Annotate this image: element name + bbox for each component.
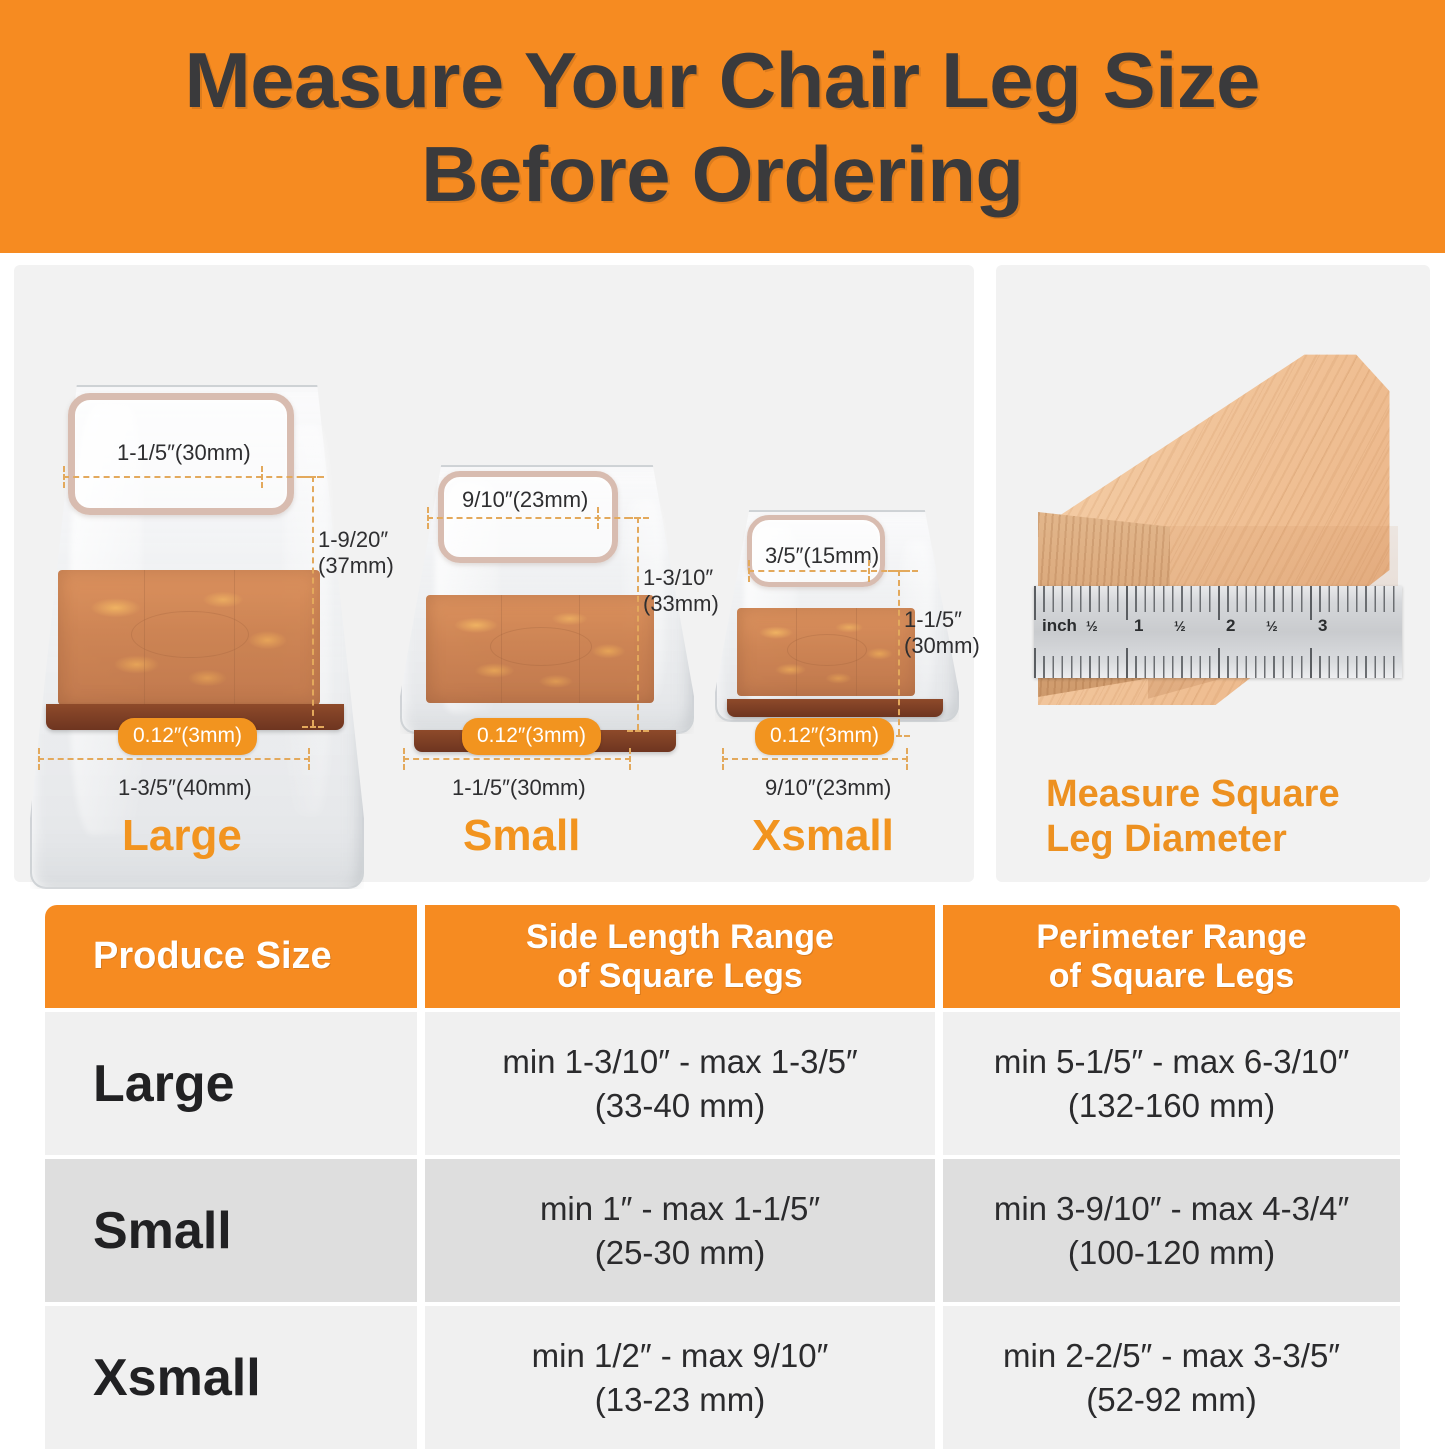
- dim-tick-bottom-large: [302, 726, 324, 728]
- dim-line-top-large: [63, 476, 323, 478]
- dim-line-bottom-small: [403, 758, 631, 760]
- ruler-mark-half-2: ½: [1174, 618, 1186, 634]
- table-row: Large min 1-3/10″ - max 1-3/5″ (33-40 mm…: [45, 1012, 1400, 1155]
- table-cell-side-length: min 1/2″ - max 9/10″ (13-23 mm): [425, 1306, 935, 1449]
- side-length-value-line2: (33-40 mm): [595, 1084, 766, 1128]
- dim-tick-bl-large: [38, 748, 40, 770]
- dim-height-mm-small: (33mm): [643, 591, 719, 616]
- dim-felt-thickness-xsmall: 0.12″(3mm): [755, 718, 894, 755]
- table-cell-size: Xsmall: [45, 1306, 417, 1449]
- dim-top-width-xsmall: 3/5″(15mm): [765, 543, 879, 569]
- table-cell-size: Large: [45, 1012, 417, 1155]
- pad-emboss-ring: [490, 627, 592, 666]
- table-cell-side-length: min 1-3/10″ - max 1-3/5″ (33-40 mm): [425, 1012, 935, 1155]
- dim-bottom-width-large: 1-3/5″(40mm): [118, 775, 252, 801]
- ruler-ticks-bottom-major: [1034, 648, 1402, 678]
- perimeter-value-line1: min 2-2/5″ - max 3-3/5″: [1003, 1334, 1340, 1378]
- dim-tick-bl-small: [403, 748, 405, 770]
- dim-top-width-large: 1-1/5″(30mm): [117, 440, 251, 466]
- side-length-header-line2: of Square Legs: [526, 957, 834, 996]
- perimeter-header-line1: Perimeter Range: [1036, 918, 1306, 957]
- pad-emboss-ring: [131, 611, 248, 659]
- dim-bottom-width-xsmall: 9/10″(23mm): [765, 775, 891, 801]
- table-cell-perimeter: min 2-2/5″ - max 3-3/5″ (52-92 mm): [943, 1306, 1400, 1449]
- dim-height-in-xsmall: 1-1/5″: [904, 607, 962, 632]
- table-header-side-length: Side Length Range of Square Legs: [425, 905, 935, 1008]
- dim-bottom-width-small: 1-1/5″(30mm): [452, 775, 586, 801]
- dim-top-width-small: 9/10″(23mm): [462, 487, 588, 513]
- cap-felt-pad-xsmall: [737, 608, 915, 696]
- perimeter-value-line2: (52-92 mm): [1086, 1378, 1257, 1422]
- measure-caption-line2: Leg Diameter: [1046, 817, 1426, 862]
- cap-felt-pad-large: [58, 570, 320, 705]
- ruler-mark-half-3: ½: [1266, 618, 1278, 634]
- dim-line-height-xsmall: [898, 570, 900, 735]
- dim-tick-right-large: [261, 466, 263, 488]
- side-length-value-line2: (13-23 mm): [595, 1378, 766, 1422]
- table-cell-perimeter: min 3-9/10″ - max 4-3/4″ (100-120 mm): [943, 1159, 1400, 1302]
- table-cell-size: Small: [45, 1159, 417, 1302]
- ruler-mark-3: 3: [1318, 616, 1327, 636]
- dim-tick-top-small: [627, 517, 649, 519]
- perimeter-value-line1: min 5-1/5″ - max 6-3/10″: [994, 1040, 1349, 1084]
- dim-felt-thickness-large: 0.12″(3mm): [118, 718, 257, 755]
- dim-height-in-small: 1-3/10″: [643, 565, 713, 590]
- size-label-small: Small: [463, 812, 580, 860]
- perimeter-value-line1: min 3-9/10″ - max 4-3/4″: [994, 1187, 1349, 1231]
- side-length-value-line1: min 1/2″ - max 9/10″: [532, 1334, 829, 1378]
- ruler-mark-2: 2: [1226, 616, 1235, 636]
- dim-line-height-large: [312, 476, 314, 726]
- dim-tick-top-xsmall: [888, 570, 910, 572]
- table-body: Large min 1-3/10″ - max 1-3/5″ (33-40 mm…: [45, 1012, 1400, 1449]
- dim-height-mm-large: (37mm): [318, 553, 394, 578]
- dim-height-large: 1-9/20″ (37mm): [318, 527, 398, 579]
- table-cell-perimeter: min 5-1/5″ - max 6-3/10″ (132-160 mm): [943, 1012, 1400, 1155]
- ruler-numbers: inch ½ 1 ½ 2 ½ 3: [1034, 616, 1402, 648]
- dim-height-xsmall: 1-1/5″ (30mm): [904, 607, 984, 659]
- table-cell-side-length: min 1″ - max 1-1/5″ (25-30 mm): [425, 1159, 935, 1302]
- dim-height-mm-xsmall: (30mm): [904, 633, 980, 658]
- row-size-label: Small: [93, 1203, 232, 1259]
- size-label-xsmall: Xsmall: [752, 812, 894, 860]
- banner-title-line1: Measure Your Chair Leg Size: [185, 33, 1260, 127]
- ruler-mark-inch: inch: [1042, 616, 1077, 636]
- side-length-value-line1: min 1-3/10″ - max 1-3/5″: [502, 1040, 857, 1084]
- dim-tick-left-xsmall: [748, 560, 750, 582]
- measure-caption-line1: Measure Square: [1046, 772, 1426, 817]
- dim-tick-right-xsmall: [868, 560, 870, 582]
- dim-felt-thickness-small: 0.12″(3mm): [462, 718, 601, 755]
- perimeter-header-line2: of Square Legs: [1036, 957, 1306, 996]
- dim-height-small: 1-3/10″ (33mm): [643, 565, 723, 617]
- ruler: inch ½ 1 ½ 2 ½ 3: [1034, 586, 1402, 678]
- dim-line-bottom-xsmall: [722, 758, 908, 760]
- perimeter-value-line2: (132-160 mm): [1068, 1084, 1275, 1128]
- side-length-value-line2: (25-30 mm): [595, 1231, 766, 1275]
- dim-tick-right-small: [597, 507, 599, 529]
- header-banner: Measure Your Chair Leg Size Before Order…: [0, 0, 1445, 253]
- dim-line-top-small: [427, 517, 640, 519]
- size-label-large: Large: [122, 812, 242, 860]
- table-row: Xsmall min 1/2″ - max 9/10″ (13-23 mm) m…: [45, 1306, 1400, 1449]
- dim-tick-left-large: [63, 466, 65, 488]
- row-size-label: Xsmall: [93, 1350, 261, 1406]
- perimeter-value-line2: (100-120 mm): [1068, 1231, 1275, 1275]
- table-header-produce-size: Produce Size: [45, 905, 417, 1008]
- infographic-page: Measure Your Chair Leg Size Before Order…: [0, 0, 1445, 1445]
- dim-line-bottom-large: [38, 758, 310, 760]
- pad-emboss-ring: [787, 634, 867, 666]
- measure-leg-caption: Measure Square Leg Diameter: [1046, 772, 1426, 862]
- table-header-perimeter: Perimeter Range of Square Legs: [943, 905, 1400, 1008]
- dim-line-height-small: [637, 517, 639, 730]
- dim-tick-bottom-small: [627, 730, 649, 732]
- size-chart-table: Produce Size Side Length Range of Square…: [45, 905, 1400, 1449]
- dim-tick-br-xsmall: [906, 748, 908, 770]
- dim-tick-top-large: [302, 476, 324, 478]
- ruler-ticks-top-major: [1034, 586, 1402, 620]
- dim-tick-left-small: [427, 507, 429, 529]
- dim-tick-bl-xsmall: [722, 748, 724, 770]
- cap-felt-pad-small: [426, 595, 654, 703]
- side-length-header-line1: Side Length Range: [526, 918, 834, 957]
- side-length-value-line1: min 1″ - max 1-1/5″: [540, 1187, 820, 1231]
- dim-tick-br-small: [629, 748, 631, 770]
- ruler-mark-1: 1: [1134, 616, 1143, 636]
- table-header-row: Produce Size Side Length Range of Square…: [45, 905, 1400, 1008]
- row-size-label: Large: [93, 1056, 235, 1112]
- ruler-mark-half-1: ½: [1086, 618, 1098, 634]
- dim-height-in-large: 1-9/20″: [318, 527, 388, 552]
- cap-felt-bottom-xsmall: [727, 699, 943, 717]
- wooden-leg-photo: inch ½ 1 ½ 2 ½ 3: [1028, 330, 1408, 720]
- banner-title-line2: Before Ordering: [421, 127, 1023, 221]
- dim-tick-br-large: [308, 748, 310, 770]
- table-row: Small min 1″ - max 1-1/5″ (25-30 mm) min…: [45, 1159, 1400, 1302]
